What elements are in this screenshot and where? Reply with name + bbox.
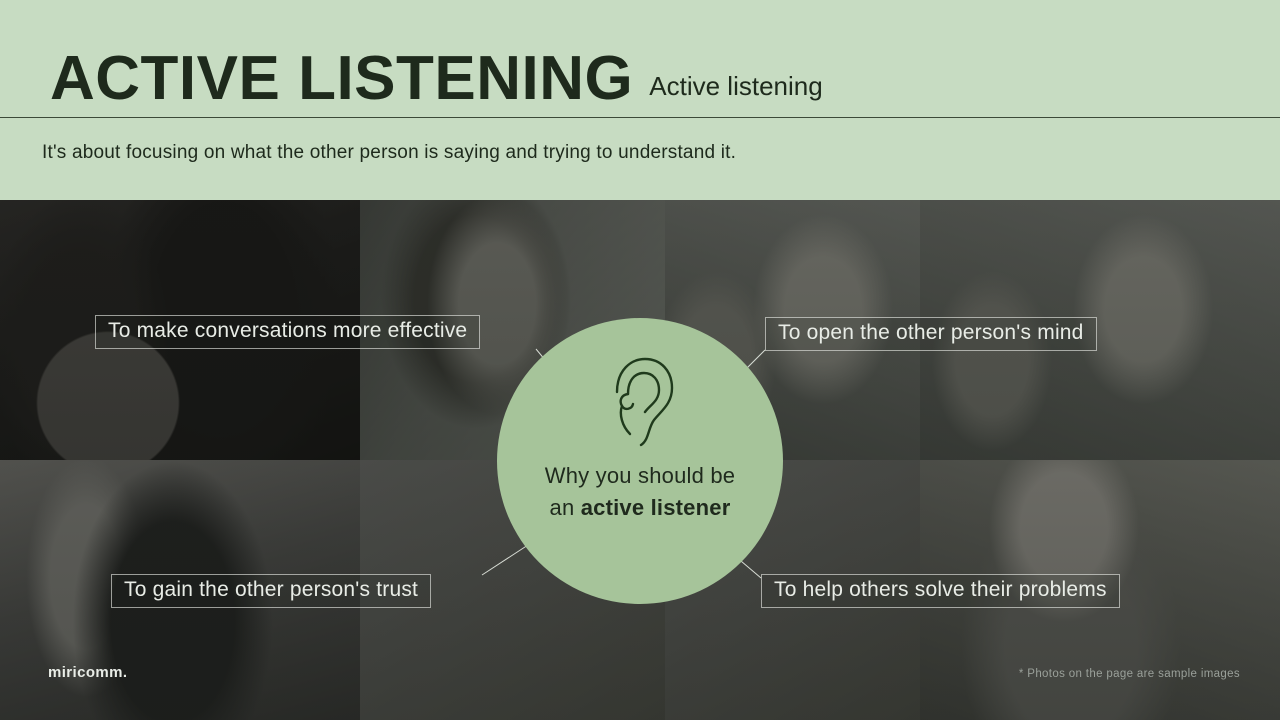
- slide-header: ACTIVE LISTENING Active listening It's a…: [0, 0, 1280, 200]
- slide: ACTIVE LISTENING Active listening It's a…: [0, 0, 1280, 720]
- header-description: It's about focusing on what the other pe…: [42, 142, 736, 164]
- callout-bottom-right[interactable]: To help others solve their problems: [761, 574, 1120, 608]
- center-caption: Why you should be an active listener: [545, 460, 736, 524]
- header-divider: [0, 117, 1280, 118]
- photo-disclaimer: * Photos on the page are sample images: [1019, 668, 1240, 680]
- center-caption-line2: an active listener: [545, 492, 736, 524]
- title-row: ACTIVE LISTENING Active listening: [50, 48, 823, 110]
- ear-icon: [597, 354, 683, 450]
- callout-top-right[interactable]: To open the other person's mind: [765, 317, 1097, 351]
- center-caption-prefix: an: [550, 495, 581, 520]
- center-circle: Why you should be an active listener: [497, 318, 783, 604]
- center-caption-line1: Why you should be: [545, 460, 736, 492]
- brand-logo: miricomm.: [48, 664, 127, 681]
- page-subtitle-label: Active listening: [649, 73, 822, 99]
- page-title: ACTIVE LISTENING: [50, 48, 633, 110]
- callout-bottom-left[interactable]: To gain the other person's trust: [111, 574, 431, 608]
- center-caption-strong: active listener: [581, 495, 731, 520]
- callout-top-left[interactable]: To make conversations more effective: [95, 315, 480, 349]
